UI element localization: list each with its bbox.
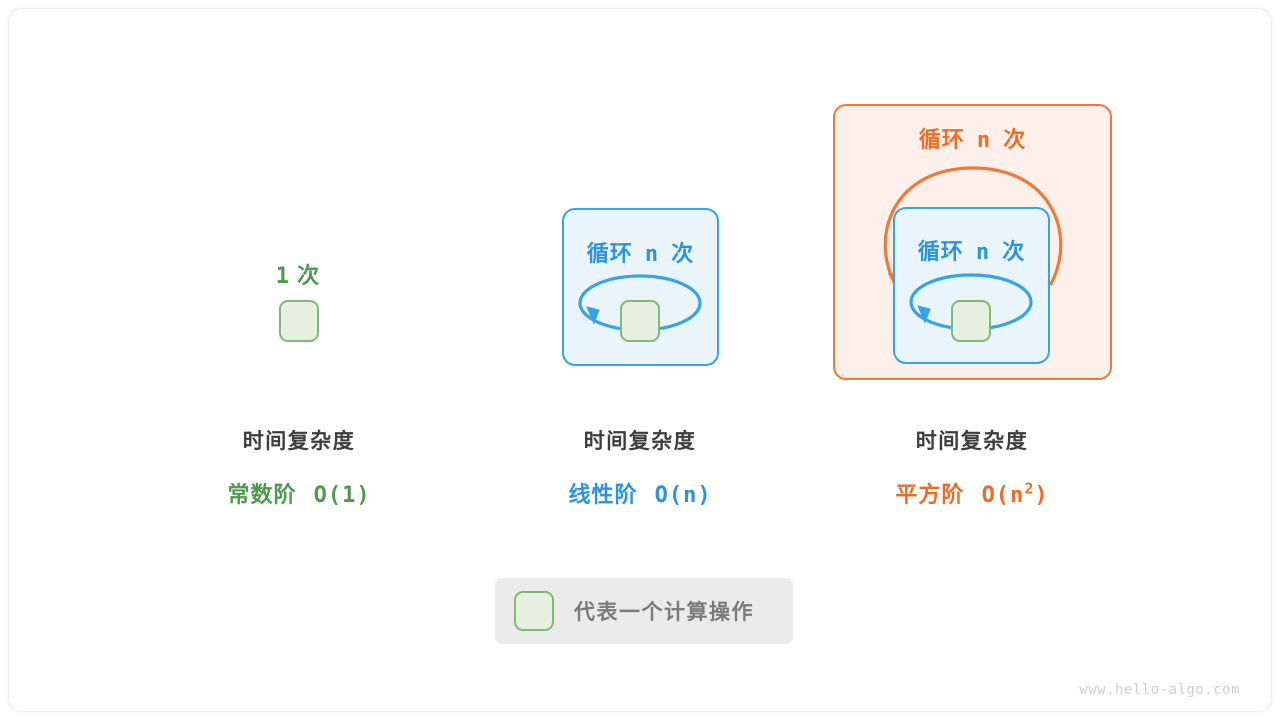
caption-quadratic: 时间复杂度 平方阶 O(n2) <box>812 425 1132 509</box>
complexity-name-linear: 线性阶 <box>568 482 637 507</box>
complexity-bigo-linear: O(n) <box>655 483 712 508</box>
quadratic-outer-suffix: 次 <box>1003 127 1026 152</box>
constant-count-label: 1 次 <box>238 258 358 290</box>
legend-label: 代表一个计算操作 <box>574 596 754 626</box>
complexity-name-quadratic: 平方阶 <box>895 482 964 507</box>
linear-loop-count: n <box>645 242 659 267</box>
constant-count-unit: 次 <box>297 263 320 288</box>
operation-square-constant <box>279 300 319 342</box>
diagram-canvas: 1 次 时间复杂度 常数阶 O(1) 循环 n 次 时间复杂度 <box>0 0 1280 720</box>
complexity-linear: 线性阶 O(n) <box>480 477 800 509</box>
complexity-bigo-quadratic-close: ) <box>1034 483 1048 508</box>
caption-title-linear: 时间复杂度 <box>480 425 800 455</box>
caption-title-constant: 时间复杂度 <box>139 425 459 455</box>
complexity-quadratic: 平方阶 O(n2) <box>812 477 1132 509</box>
quadratic-inner-loop-label: 循环 n 次 <box>893 234 1050 266</box>
operation-square-quadratic <box>951 300 991 342</box>
operation-square-linear <box>620 300 660 342</box>
linear-loop-box <box>562 208 719 366</box>
linear-loop-label: 循环 n 次 <box>562 236 719 268</box>
quadratic-inner-count: n <box>976 240 990 265</box>
legend-green-operation-square <box>514 591 554 631</box>
quadratic-outer-prefix: 循环 <box>919 127 965 152</box>
caption-linear: 时间复杂度 线性阶 O(n) <box>480 425 800 509</box>
quadratic-inner-suffix: 次 <box>1002 239 1025 264</box>
complexity-bigo-constant: O(1) <box>314 483 371 508</box>
linear-loop-prefix: 循环 <box>587 241 633 266</box>
complexity-constant: 常数阶 O(1) <box>139 477 459 509</box>
watermark: www.hello-algo.com <box>1079 682 1240 698</box>
complexity-name-constant: 常数阶 <box>227 482 296 507</box>
legend: 代表一个计算操作 <box>495 578 793 644</box>
quadratic-outer-count: n <box>977 128 991 153</box>
quadratic-outer-loop-label: 循环 n 次 <box>833 122 1112 154</box>
linear-loop-suffix: 次 <box>671 241 694 266</box>
complexity-bigo-quadratic-exponent: 2 <box>1024 480 1034 498</box>
caption-title-quadratic: 时间复杂度 <box>812 425 1132 455</box>
constant-count-value: 1 <box>276 264 290 289</box>
complexity-bigo-quadratic-base: O(n <box>982 483 1025 508</box>
quadratic-inner-prefix: 循环 <box>918 239 964 264</box>
caption-constant: 时间复杂度 常数阶 O(1) <box>139 425 459 509</box>
